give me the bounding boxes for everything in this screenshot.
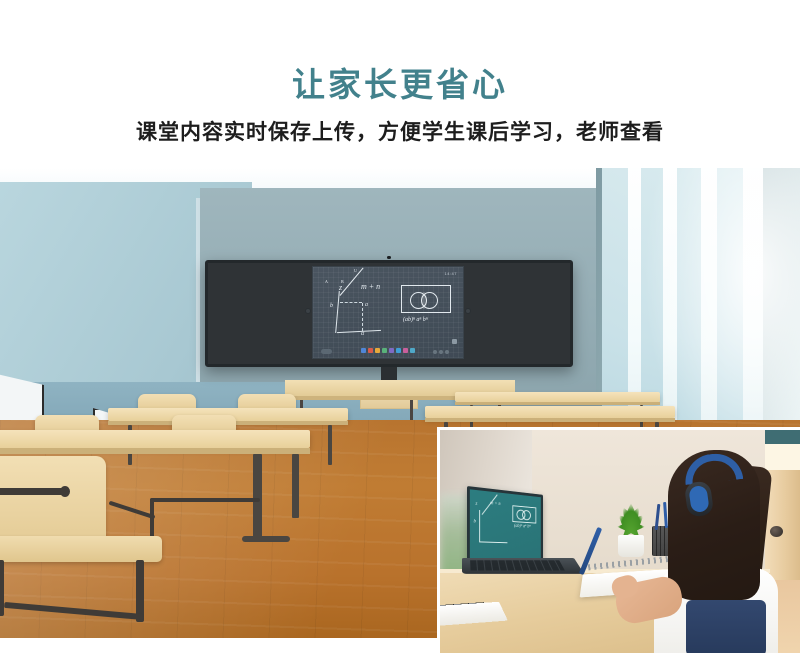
graph-dash-horizontal [340,302,362,303]
save-icon[interactable] [403,348,408,353]
display-home-button[interactable] [321,349,332,354]
inset-laptop-keyboard [462,558,584,574]
inset-door-upper-wall [765,444,800,470]
inset-ink-z: z [475,502,477,507]
inset-venn-box [512,505,536,523]
venn-label-a: A [325,279,328,284]
interactive-flat-panel[interactable]: 14:47 z m + n b a α A B [205,260,573,367]
side-button-right[interactable] [465,308,471,314]
inset-girl-overalls [686,600,766,653]
desk-leg [328,425,332,465]
shape-icon[interactable] [389,348,394,353]
page-subtitle: 课堂内容实时保存上传，方便学生课后学习，老师查看 [0,122,800,143]
display-corner-button[interactable] [452,339,457,344]
inset-door-top-band [765,430,800,444]
status-dot-2 [439,350,443,354]
desk-row-back-right-2 [425,406,675,418]
text-icon[interactable] [382,348,387,353]
ink-label-a: a [365,302,368,308]
camera-icon [387,256,391,259]
inset-graph-y-axis [479,510,480,541]
status-dot-3 [445,350,449,354]
display-status-group[interactable] [433,349,455,354]
inset-plant-pot [618,535,644,557]
graph-x-axis [337,330,381,333]
venn-intersection [421,292,427,309]
ink-label-mn: m + n [361,282,380,291]
venn-universe-box [401,285,451,313]
ink-label-alpha: α [361,331,364,337]
ink-label-b: b [330,303,333,309]
desk-foot [242,536,290,542]
window-light-glow [640,168,800,443]
desk-row-front [0,430,310,448]
graph-dash-vertical [362,303,363,331]
side-button-left[interactable] [305,308,311,314]
inset-laptop-screen: z m + n b (ab)ⁿ aⁿ bⁿ [467,486,543,562]
status-dot-1 [433,350,437,354]
desk-rail [150,498,260,502]
chair-backrest-front [0,456,106,546]
chair-arm-rail [0,488,68,495]
highlighter-icon[interactable] [368,348,373,353]
ink-formula: (ab)ⁿ aⁿ bⁿ [403,317,428,323]
desk-edge-back-right [455,402,660,405]
inset-ink-b: b [474,519,476,524]
venn-label-b: B [341,279,344,284]
display-clock: 14:47 [444,271,457,276]
venn-label-u: U [354,268,357,273]
door-handle-icon [770,526,783,537]
inset-venn-circle-b [522,510,531,521]
inset-laptop-screen-content: z m + n b (ab)ⁿ aⁿ bⁿ [470,489,541,559]
inset-ink-formula: (ab)ⁿ aⁿ bⁿ [514,524,530,530]
chair-arm-knob [60,486,70,497]
pen-icon[interactable] [361,348,366,353]
inset-laptop-keys [470,560,565,570]
page-title: 让家长更省心 [0,68,800,101]
display-screen[interactable]: 14:47 z m + n b a α A B [312,266,464,359]
chair-seat-front [0,536,162,562]
select-icon[interactable] [396,348,401,353]
desk-row-back-right [455,392,660,402]
desk-leg-front [292,454,299,518]
desk-edge [425,418,675,422]
eraser-icon[interactable] [375,348,380,353]
header: 让家长更省心 课堂内容实时保存上传，方便学生课后学习，老师查看 [0,0,800,170]
inset-graph-x-axis [479,541,507,543]
desk-leg-front [253,454,262,540]
inset-photo-remote-learning: z m + n b (ab)ⁿ aⁿ bⁿ [437,427,800,653]
graph-y-axis [335,291,340,333]
page-root: 让家长更省心 课堂内容实时保存上传，方便学生课后学习，老师查看 [0,0,800,653]
chair-leg [0,560,4,616]
desk-edge [0,448,310,454]
display-toolbar[interactable] [361,348,415,353]
more-icon[interactable] [410,348,415,353]
